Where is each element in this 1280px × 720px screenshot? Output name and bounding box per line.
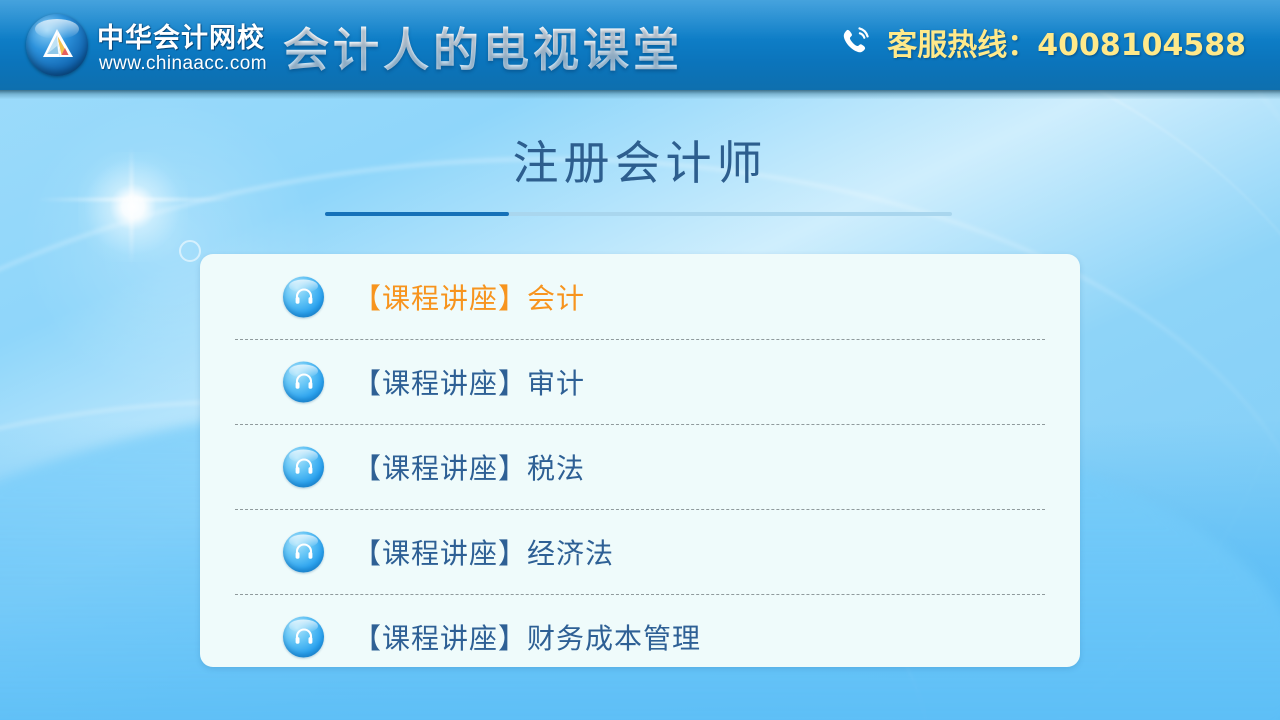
hotline-block: 客服热线：4008104588 — [835, 20, 1246, 64]
list-item[interactable]: 【课程讲座】税法 — [200, 424, 1080, 509]
course-label: 【课程讲座】经济法 — [353, 532, 614, 572]
course-label: 【课程讲座】财务成本管理 — [353, 617, 701, 657]
brand-name: 中华会计网校 — [97, 16, 265, 55]
course-label: 【课程讲座】审计 — [353, 362, 585, 402]
chinaacc-logo-icon[interactable] — [26, 14, 88, 76]
brand-url: www.chinaacc.com — [99, 53, 267, 75]
headphones-glyph-icon — [293, 541, 315, 563]
course-label: 【课程讲座】税法 — [353, 447, 585, 487]
header-shadow — [0, 90, 1280, 99]
list-item[interactable]: 【课程讲座】会计 — [200, 254, 1080, 339]
slide-root: 中华会计网校 www.chinaacc.com 会计人的电视课堂 客服热线：40… — [0, 0, 1280, 720]
course-label: 【课程讲座】会计 — [353, 277, 585, 317]
headphones-icon — [283, 276, 324, 317]
hotline-text: 客服热线：4008104588 — [887, 20, 1246, 64]
headphones-icon — [283, 446, 324, 487]
list-item[interactable]: 【课程讲座】经济法 — [200, 509, 1080, 594]
headphones-glyph-icon — [293, 456, 315, 478]
list-item[interactable]: 【课程讲座】财务成本管理 — [200, 594, 1080, 679]
page-title: 注册会计师 — [0, 127, 1280, 193]
site-header: 中华会计网校 www.chinaacc.com 会计人的电视课堂 客服热线：40… — [0, 0, 1280, 90]
logo-glyph-icon — [38, 26, 76, 64]
headphones-icon — [283, 361, 324, 402]
course-list: 【课程讲座】会计 【课程讲座】审计 — [200, 254, 1080, 667]
headphones-icon — [283, 531, 324, 572]
header-slogan: 会计人的电视课堂 — [283, 14, 683, 80]
headphones-glyph-icon — [293, 371, 315, 393]
title-rule-accent — [325, 212, 509, 216]
light-ring — [179, 240, 201, 262]
course-card: 【课程讲座】会计 【课程讲座】审计 — [200, 254, 1080, 667]
list-item[interactable]: 【课程讲座】审计 — [200, 339, 1080, 424]
phone-icon — [835, 22, 875, 62]
light-streak-horizontal — [36, 198, 236, 201]
headphones-icon — [283, 616, 324, 657]
headphones-glyph-icon — [293, 626, 315, 648]
headphones-glyph-icon — [293, 286, 315, 308]
